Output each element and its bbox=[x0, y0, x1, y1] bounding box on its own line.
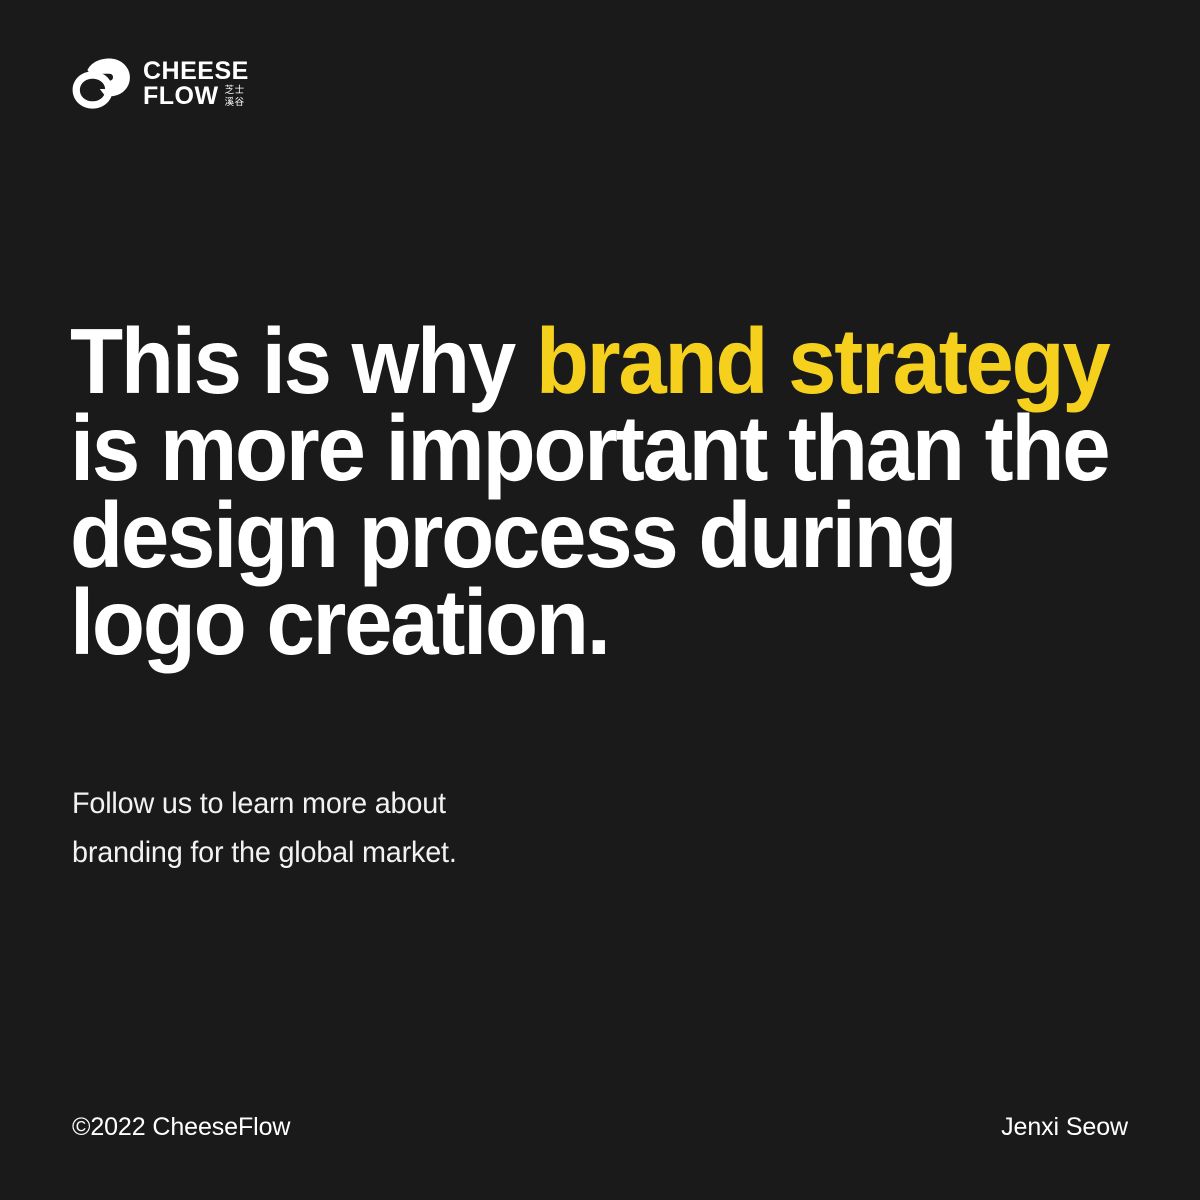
headline-text: logo creation. bbox=[70, 570, 609, 674]
headline: This is why brand strategyis more import… bbox=[70, 318, 1070, 666]
subtext: Follow us to learn more about branding f… bbox=[72, 780, 457, 877]
headline-line-2: is more important than the bbox=[70, 405, 1070, 492]
brand-wordmark: CHEESE FLOW 芝士 溪谷 bbox=[143, 59, 249, 110]
footer-copyright: ©2022 CheeseFlow bbox=[72, 1113, 290, 1142]
subtext-line-2: branding for the global market. bbox=[72, 829, 457, 878]
wordmark-bottom-row: FLOW 芝士 溪谷 bbox=[143, 84, 249, 110]
footer-author: Jenxi Seow bbox=[1001, 1113, 1128, 1142]
wordmark-cjk-line1: 芝士 bbox=[225, 85, 245, 97]
infinity-lozenge-icon bbox=[72, 58, 130, 110]
wordmark-cjk-block: 芝士 溪谷 bbox=[225, 85, 245, 109]
headline-line-4: logo creation. bbox=[70, 579, 1070, 666]
footer: ©2022 CheeseFlow Jenxi Seow bbox=[72, 1113, 1128, 1142]
headline-line-1: This is why brand strategy bbox=[70, 318, 1070, 405]
wordmark-line-flow: FLOW bbox=[143, 84, 219, 110]
headline-line-3: design process during bbox=[70, 492, 1070, 579]
wordmark-cjk-line2: 溪谷 bbox=[225, 97, 245, 109]
social-post-canvas: CHEESE FLOW 芝士 溪谷 This is why brand stra… bbox=[0, 0, 1200, 1200]
brand-lockup[interactable]: CHEESE FLOW 芝士 溪谷 bbox=[72, 58, 249, 110]
wordmark-line-cheese: CHEESE bbox=[143, 59, 249, 85]
subtext-line-1: Follow us to learn more about bbox=[72, 780, 457, 829]
